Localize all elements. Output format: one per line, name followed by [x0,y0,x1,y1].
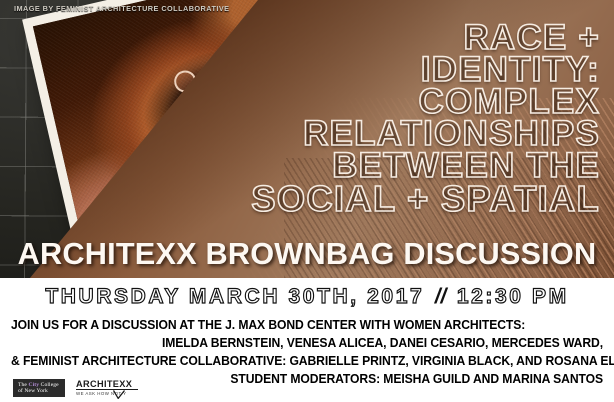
architexx-logo: ARCHITEXX WE ASK HOW NOT Y [76,380,138,397]
description-line-3: & FEMINIST ARCHITECTURE COLLABORATIVE: G… [11,352,582,370]
event-date: THURSDAY MARCH 30TH, 2017 [45,285,424,308]
poster-info-block: THURSDAY MARCH 30TH, 2017 // 12:30 PM JO… [0,278,614,402]
event-description: JOIN US FOR A DISCUSSION AT THE J. MAX B… [0,316,614,389]
image-credit-text: IMAGE BY FEMINIST ARCHITECTURE COLLABORA… [14,4,229,13]
date-separator: // [433,285,449,308]
event-title: ARCHITEXX BROWNBAG DISCUSSION [3,236,611,272]
architexx-logo-tagline: WE ASK HOW NOT Y [76,392,138,396]
description-line-1: JOIN US FOR A DISCUSSION AT THE J. MAX B… [11,316,582,334]
ccny-logo-line-2: of New York [18,388,60,394]
poster-root: IMAGE BY FEMINIST ARCHITECTURE COLLABORA… [0,0,614,402]
architexx-logo-name: ARCHITEXX [76,380,138,391]
headline-line-6: SOCIAL + SPATIAL [180,182,600,215]
ccny-logo: The City College of New York [13,379,65,397]
description-line-2: IMELDA BERNSTEIN, VENESA ALICEA, DANEI C… [32,334,603,352]
event-datetime: THURSDAY MARCH 30TH, 2017 // 12:30 PM [0,286,614,307]
checkmark-icon [113,390,125,399]
sponsor-logos: The City College of New York ARCHITEXX W… [13,379,138,397]
event-time: 12:30 PM [457,285,569,308]
poster-artwork: IMAGE BY FEMINIST ARCHITECTURE COLLABORA… [0,0,614,278]
poster-headline: RACE + IDENTITY: COMPLEX RELATIONSHIPS B… [180,22,600,215]
